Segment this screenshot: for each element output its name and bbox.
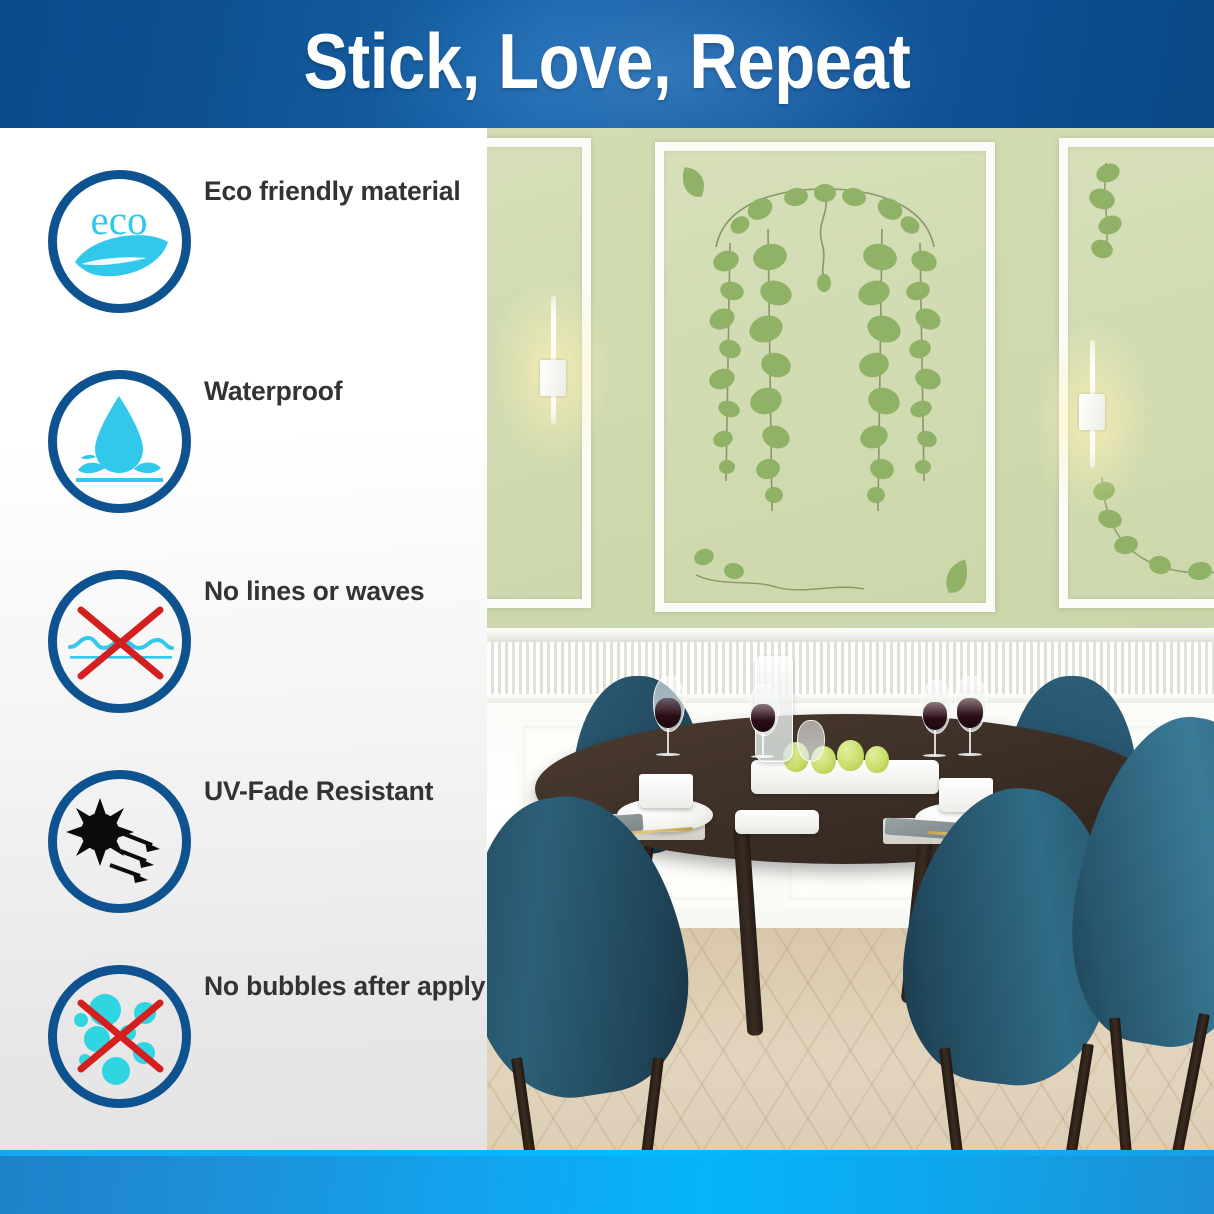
small-dish bbox=[735, 810, 819, 834]
wine-glass-stem bbox=[762, 732, 764, 756]
sconce-plate-right bbox=[1079, 394, 1105, 430]
fluted-trim bbox=[487, 642, 1214, 694]
water-droplet-glyph bbox=[48, 370, 191, 513]
wall-molding-panel-center bbox=[655, 142, 995, 612]
page-title: Stick, Love, Repeat bbox=[85, 0, 1129, 128]
ivy-vine-decal-center bbox=[664, 151, 986, 603]
feature-label-no-bubbles: No bubbles after apply bbox=[204, 971, 486, 1001]
feature-label-no-waves: No lines or waves bbox=[204, 576, 486, 606]
wine-glass-foot bbox=[958, 753, 982, 756]
footer-hairline bbox=[0, 1150, 1214, 1156]
wine-liquid bbox=[751, 704, 775, 732]
no-waves-icon bbox=[48, 570, 191, 713]
features-panel: eco Eco friendly material Waterproof bbox=[0, 128, 487, 1150]
feature-label-waterproof: Waterproof bbox=[204, 376, 486, 406]
pear bbox=[837, 740, 864, 771]
uv-sun-rays-glyph bbox=[48, 770, 191, 913]
feature-label-uv-fade: UV-Fade Resistant bbox=[204, 776, 486, 806]
pear bbox=[865, 746, 889, 773]
wine-glass-foot bbox=[923, 754, 946, 757]
water-droplet-icon bbox=[48, 370, 191, 513]
wine-liquid bbox=[655, 698, 681, 728]
feature-item-waterproof: Waterproof bbox=[0, 358, 487, 558]
eco-leaf-icon: eco bbox=[48, 170, 191, 313]
eco-leaf-glyph: eco bbox=[48, 170, 191, 313]
wall-molding-panel-right bbox=[1059, 138, 1214, 608]
sconce-plate-left bbox=[540, 360, 566, 396]
water-glass bbox=[797, 720, 825, 762]
no-bubbles-glyph bbox=[48, 965, 191, 1108]
feature-item-eco: eco Eco friendly material bbox=[0, 158, 487, 358]
wine-glass-foot bbox=[751, 755, 774, 758]
feature-item-no-bubbles: No bubbles after apply bbox=[0, 953, 487, 1150]
wainscot-cap bbox=[487, 628, 1214, 640]
uv-sun-rays-icon bbox=[48, 770, 191, 913]
wine-glass-stem bbox=[934, 730, 936, 756]
wall-molding-panel-left bbox=[487, 138, 591, 608]
wine-liquid bbox=[923, 702, 947, 730]
header-banner: Stick, Love, Repeat bbox=[0, 0, 1214, 128]
no-bubbles-icon bbox=[48, 965, 191, 1108]
coffee-cup bbox=[639, 774, 693, 808]
feature-label-eco: Eco friendly material bbox=[204, 176, 486, 206]
wine-glass-stem bbox=[667, 728, 669, 754]
wine-glass-stem bbox=[969, 728, 971, 754]
no-waves-glyph bbox=[48, 570, 191, 713]
product-infographic-poster: Stick, Love, Repeat eco Eco friendly mat… bbox=[0, 0, 1214, 1214]
wine-liquid bbox=[957, 698, 983, 728]
feature-item-no-waves: No lines or waves bbox=[0, 558, 487, 758]
footer-banner bbox=[0, 1150, 1214, 1214]
lifestyle-photo bbox=[487, 128, 1214, 1150]
wine-glass-foot bbox=[656, 753, 680, 756]
feature-item-uv-fade: UV-Fade Resistant bbox=[0, 758, 487, 958]
